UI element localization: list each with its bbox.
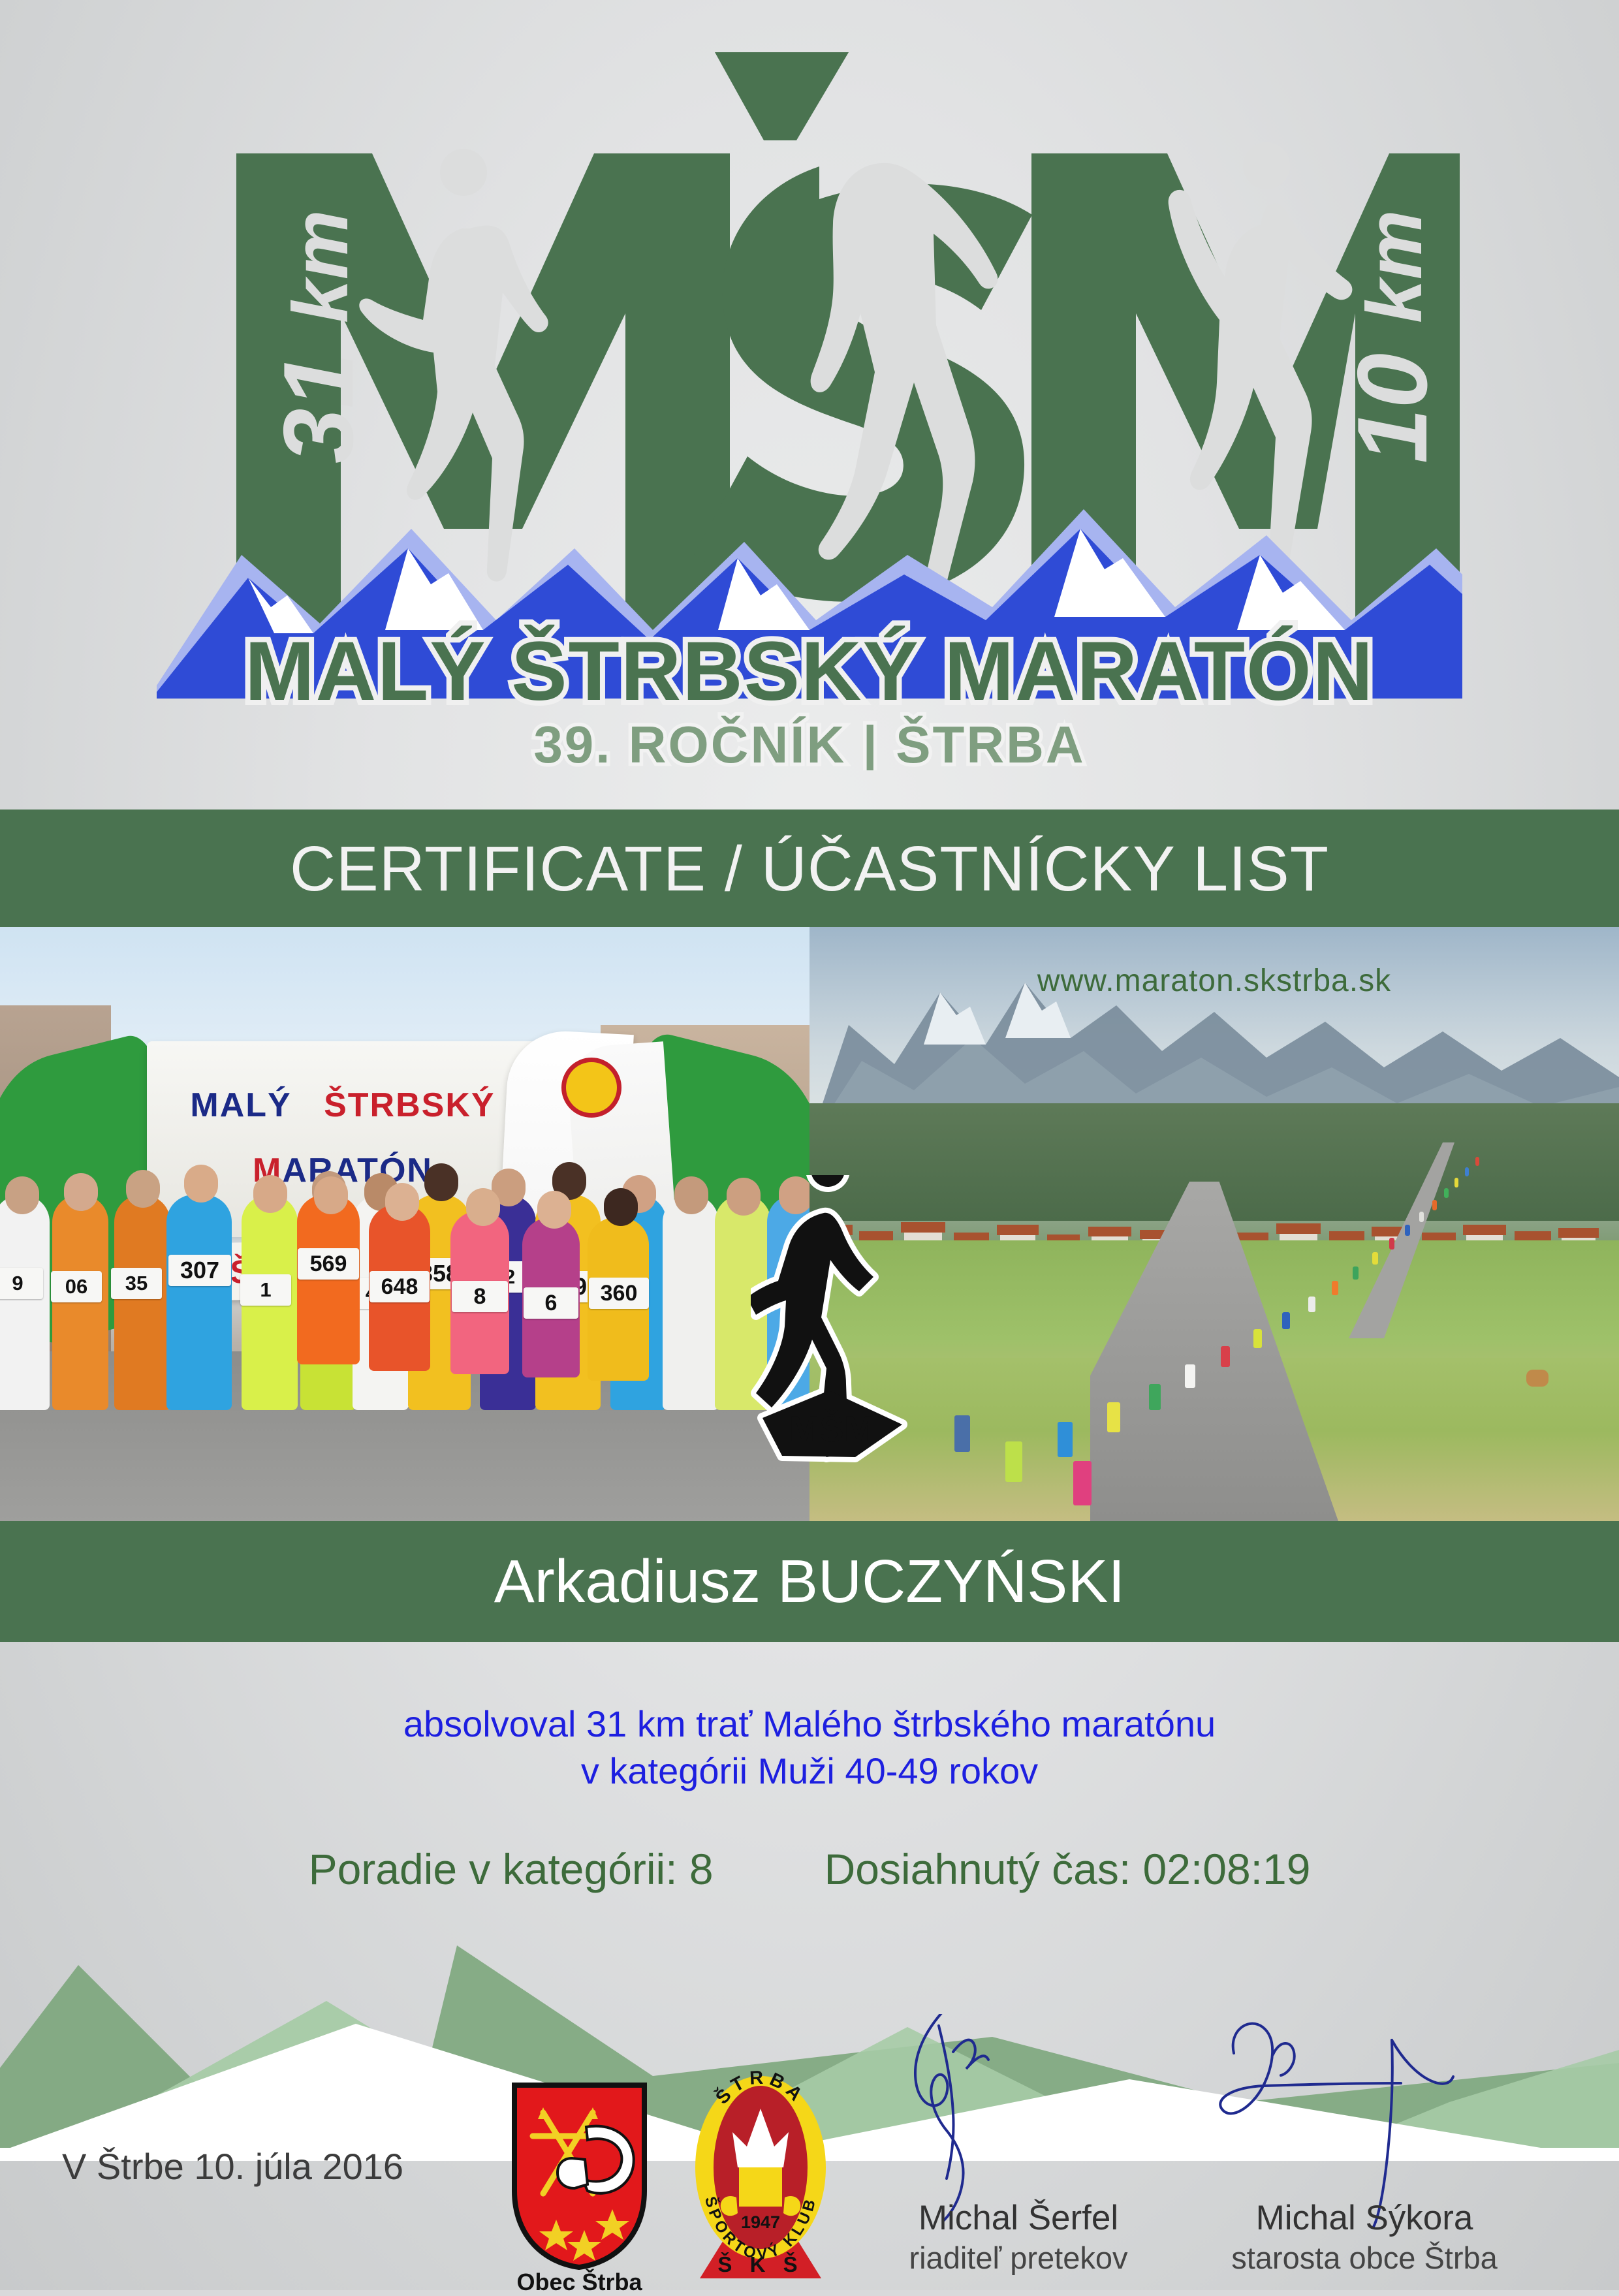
signature-block-mayor: Michal Sýkora starosta obce Štrba [1195, 2053, 1534, 2269]
club-year: 1947 [741, 2212, 780, 2232]
achievement-line-2: v kategórii Muži 40-49 rokov [0, 1748, 1619, 1795]
runner-crowd: 9 06 35 307 1 45 35 [0, 1103, 809, 1410]
msm-badge-text: MŠM [789, 1408, 875, 1449]
bib-number: 1 [240, 1274, 291, 1306]
website-url: www.maraton.skstrba.sk [809, 963, 1619, 999]
bib-number: 35 [111, 1268, 162, 1299]
start-line-photo: MALÝ ŠTRBSKÝ MARATÓN ŠTART - CIEĽ 9 [0, 927, 809, 1521]
signature-name: Michal Sýkora [1195, 2198, 1534, 2238]
crest-caption: Obec Štrba [496, 2269, 663, 2296]
bib-number: 569 [298, 1248, 359, 1280]
signature-role: riaditeľ pretekov [849, 2240, 1188, 2276]
bib-number: 648 [369, 1271, 430, 1302]
bib-number: 6 [524, 1287, 578, 1319]
event-edition: 39. ROČNÍK | ŠTRBA [533, 716, 1085, 770]
bib-number: 360 [589, 1278, 649, 1309]
signature-ink-mayor [1195, 2014, 1534, 2229]
msm-runner-badge: MŠM [751, 1175, 914, 1482]
svg-text:km: km [1351, 210, 1438, 323]
participant-name: Arkadiusz BUCZYŃSKI [494, 1551, 1125, 1612]
certificate-page: 31 km 10 km [0, 0, 1619, 2290]
issue-date: V Štrbe 10. júla 2016 [62, 2145, 403, 2188]
bib-number: 8 [452, 1281, 508, 1312]
svg-text:km: km [277, 210, 364, 323]
certificate-title: CERTIFICATE / ÚČASTNÍCKY LIST [290, 837, 1329, 900]
results-row: Poradie v kategórii: 8 Dosiahnutý čas: 0… [0, 1844, 1619, 1894]
certificate-title-banner: CERTIFICATE / ÚČASTNÍCKY LIST [0, 810, 1619, 927]
event-logo-block: 31 km 10 km [0, 0, 1619, 810]
certificate-footer: V Štrbe 10. júla 2016 Obec Štrba [0, 1991, 1619, 2290]
obec-strba-crest [509, 2081, 650, 2271]
event-name: MALÝ ŠTRBSKÝ MARATÓN [245, 625, 1374, 718]
finish-time: Dosiahnutý čas: 02:08:19 [825, 1844, 1311, 1894]
distance-left-label: 31 [263, 353, 374, 464]
club-bottom-text: Š K Š [717, 2252, 803, 2276]
signature-block-director: Michal Šerfel riaditeľ pretekov [849, 2053, 1188, 2269]
signature-ink-director [849, 2014, 1188, 2229]
signature-name: Michal Šerfel [849, 2198, 1188, 2238]
category-rank: Poradie v kategórii: 8 [309, 1844, 714, 1894]
participant-name-banner: Arkadiusz BUCZYŃSKI [0, 1521, 1619, 1642]
race-route-photo: www.maraton.skstrba.sk [809, 927, 1619, 1521]
signature-role: starosta obce Štrba [1195, 2240, 1534, 2276]
bib-number: 9 [0, 1268, 43, 1299]
achievement-line-1: absolvoval 31 km trať Malého štrbského m… [0, 1701, 1619, 1748]
distance-right-label: 10 [1337, 353, 1448, 464]
bib-number: 06 [51, 1271, 102, 1302]
bib-number: 307 [168, 1255, 231, 1286]
participant-details: absolvoval 31 km trať Malého štrbského m… [0, 1642, 1619, 2034]
msm-logo: 31 km 10 km [157, 33, 1462, 770]
sks-club-logo: ŠTRBA ŠPORTOVÝ KLUB 1947 Š K Š [679, 2069, 842, 2285]
